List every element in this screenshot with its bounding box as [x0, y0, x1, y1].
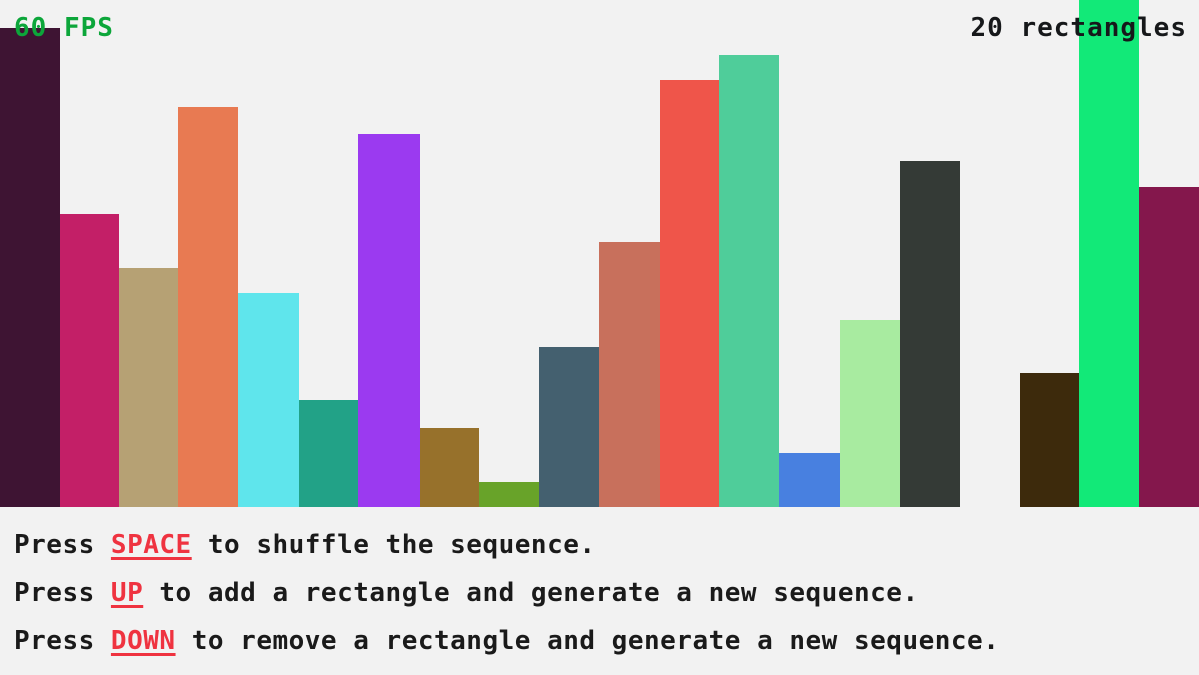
bar-olive-green	[479, 482, 539, 507]
bar-dark-magenta	[1139, 187, 1199, 507]
instruction-prefix: Press	[14, 578, 111, 608]
bar-salmon-brown	[599, 242, 660, 507]
key-down[interactable]: DOWN	[111, 626, 176, 656]
key-space[interactable]: SPACE	[111, 530, 192, 560]
bar-orange	[178, 107, 238, 507]
instruction-line-2: Press UP to add a rectangle and generate…	[14, 569, 1199, 617]
instruction-line-3: Press DOWN to remove a rectangle and gen…	[14, 617, 1199, 665]
bar-tan	[119, 268, 178, 507]
bar-bright-green	[1079, 0, 1139, 507]
bar-purple	[358, 134, 420, 507]
instruction-suffix: to add a rectangle and generate a new se…	[143, 578, 918, 608]
bar-teal	[299, 400, 358, 507]
bar-dark-brown	[1020, 373, 1079, 507]
bar-slate-blue	[539, 347, 599, 507]
bar-dark-gray	[900, 161, 960, 507]
bar-dark-plum	[0, 28, 60, 507]
bar-light-green	[840, 320, 900, 507]
instruction-line-1: Press SPACE to shuffle the sequence.	[14, 521, 1199, 569]
bar-red	[660, 80, 719, 507]
instruction-suffix: to remove a rectangle and generate a new…	[176, 626, 1000, 656]
rectangle-count-label: 20 rectangles	[971, 13, 1188, 43]
bar-blue	[779, 453, 840, 507]
fps-counter: 60 FPS	[14, 13, 114, 43]
instruction-suffix: to shuffle the sequence.	[192, 530, 596, 560]
bar-cyan	[238, 293, 299, 507]
bar-magenta-pink	[60, 214, 119, 507]
instruction-prefix: Press	[14, 530, 111, 560]
bar-green-teal	[719, 55, 779, 507]
rectangle-sequence-chart	[0, 0, 1199, 507]
instructions-panel: Press SPACE to shuffle the sequence.Pres…	[0, 507, 1199, 675]
key-up[interactable]: UP	[111, 578, 143, 608]
app-canvas: 60 FPS 20 rectangles Press SPACE to shuf…	[0, 0, 1199, 675]
instruction-prefix: Press	[14, 626, 111, 656]
bar-brown-ochre	[420, 428, 479, 507]
